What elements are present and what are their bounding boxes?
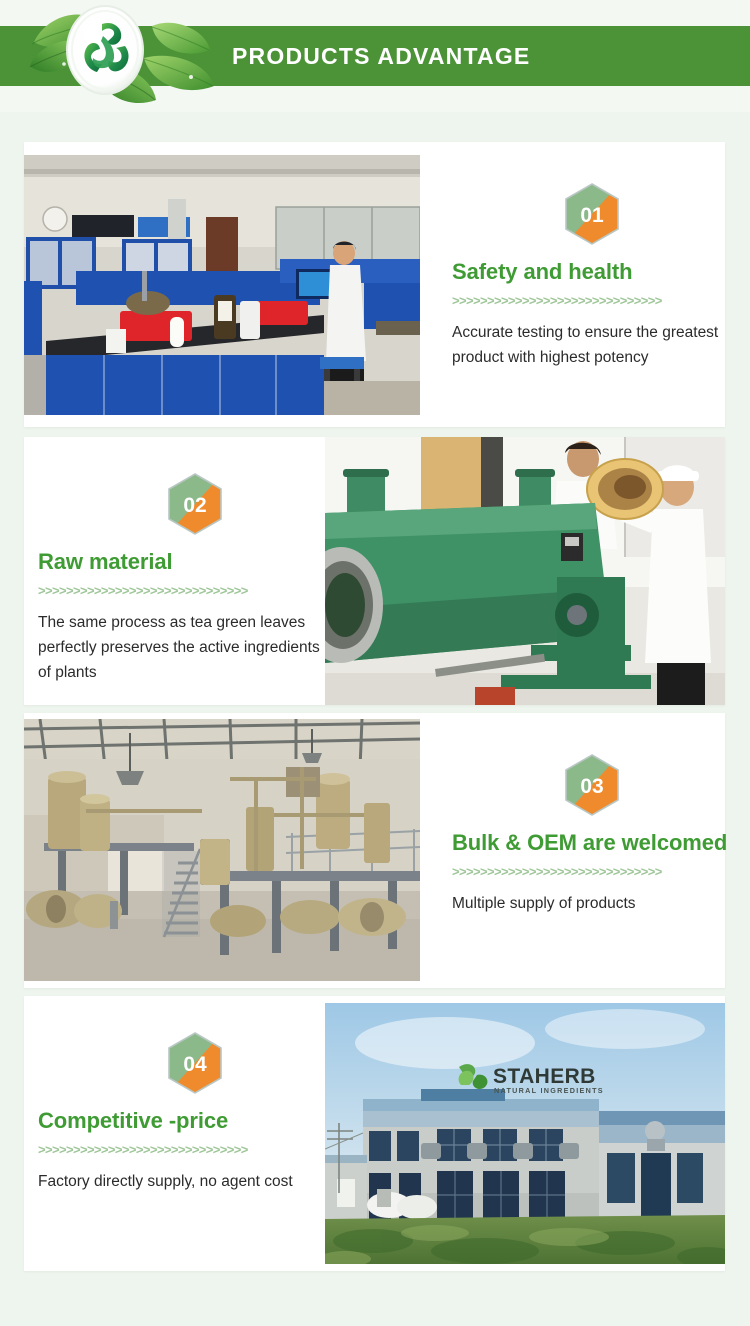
advantage-card: 02 Raw material >>>>>>>>>>>>>>>>>>>>>>>>…	[24, 437, 725, 705]
advantage-text-block: 04 Competitive -price >>>>>>>>>>>>>>>>>>…	[38, 1031, 333, 1194]
advantage-title: Safety and health	[452, 260, 737, 285]
advantage-title: Raw material	[38, 550, 333, 575]
advantage-description: Multiple supply of products	[452, 891, 737, 916]
advantage-title: Competitive -price	[38, 1109, 333, 1134]
page-header: PRODUCTS ADVANTAGE	[0, 0, 750, 112]
staherb-leaf-logo	[28, 0, 218, 112]
badge-number: 04	[183, 1053, 207, 1076]
chevron-divider: >>>>>>>>>>>>>>>>>>>>>>>>>>>>>>	[452, 294, 737, 307]
advantage-text-block: 03 Bulk & OEM are welcomed >>>>>>>>>>>>>…	[452, 753, 737, 916]
number-badge-hexagon: 01	[563, 182, 621, 246]
storage-tank	[397, 1195, 437, 1219]
badge-number: 02	[183, 494, 206, 517]
chevron-divider: >>>>>>>>>>>>>>>>>>>>>>>>>>>>>>	[452, 865, 737, 878]
tea-roasting-machine-photo	[325, 437, 725, 705]
advantage-description: Factory directly supply, no agent cost	[38, 1169, 333, 1194]
advantage-description: The same process as tea green leaves per…	[38, 610, 333, 685]
badge-number: 01	[580, 204, 604, 227]
number-badge-hexagon: 04	[166, 1031, 224, 1095]
advantage-card: 03 Bulk & OEM are welcomed >>>>>>>>>>>>>…	[24, 713, 725, 988]
advantage-card: STAHERB NATURAL INGREDIENTS	[24, 996, 725, 1271]
advantage-text-block: 02 Raw material >>>>>>>>>>>>>>>>>>>>>>>>…	[38, 472, 333, 685]
sign-brand: STAHERB	[493, 1065, 596, 1088]
advantage-text-block: 01 Safety and health >>>>>>>>>>>>>>>>>>>…	[452, 182, 737, 370]
advantage-description: Accurate testing to ensure the greatest …	[452, 320, 737, 370]
factory-building-photo: STAHERB NATURAL INGREDIENTS	[325, 1003, 725, 1264]
red-basket	[252, 301, 308, 325]
badge-number: 03	[580, 775, 603, 798]
advantage-title: Bulk & OEM are welcomed	[452, 831, 737, 856]
lab-photo	[24, 155, 420, 415]
advantage-card: 01 Safety and health >>>>>>>>>>>>>>>>>>>…	[24, 142, 725, 427]
extraction-workshop-photo	[24, 719, 420, 981]
chevron-divider: >>>>>>>>>>>>>>>>>>>>>>>>>>>>>>	[38, 584, 333, 597]
page-title: PRODUCTS ADVANTAGE	[232, 26, 530, 86]
number-badge-hexagon: 02	[166, 472, 224, 536]
chevron-divider: >>>>>>>>>>>>>>>>>>>>>>>>>>>>>>	[38, 1143, 333, 1156]
products-advantage-page: PRODUCTS ADVANTAGE	[0, 0, 750, 1326]
staircase	[162, 849, 200, 937]
number-badge-hexagon: 03	[563, 753, 621, 817]
sign-tagline: NATURAL INGREDIENTS	[494, 1086, 604, 1095]
